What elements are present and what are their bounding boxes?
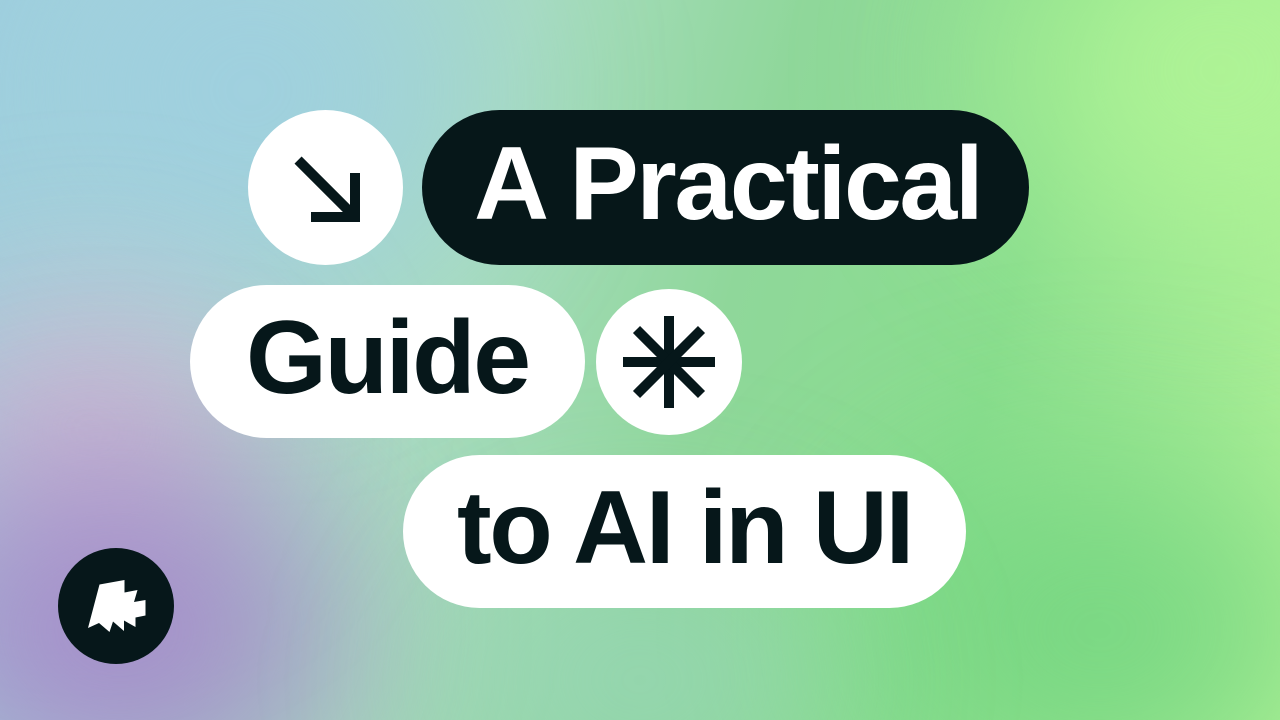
poster-canvas: A Practical Guide to AI in UI: [0, 0, 1280, 720]
brand-logo-mark: [58, 548, 174, 664]
headline-pill-3: to AI in UI: [403, 455, 966, 608]
headline-pill-1: A Practical: [422, 110, 1029, 265]
headline-line-2-text: Guide: [246, 306, 529, 410]
headline-line-1-text: A Practical: [474, 132, 981, 236]
headline-row-2: Guide: [190, 285, 742, 438]
headline-row-3: to AI in UI: [403, 455, 966, 608]
headline-line-3-text: to AI in UI: [457, 476, 912, 580]
asterisk-icon: [596, 289, 742, 435]
headline-pill-2: Guide: [190, 285, 585, 438]
headline-row-1: A Practical: [248, 110, 1029, 265]
arrow-down-right-icon: [248, 110, 403, 265]
